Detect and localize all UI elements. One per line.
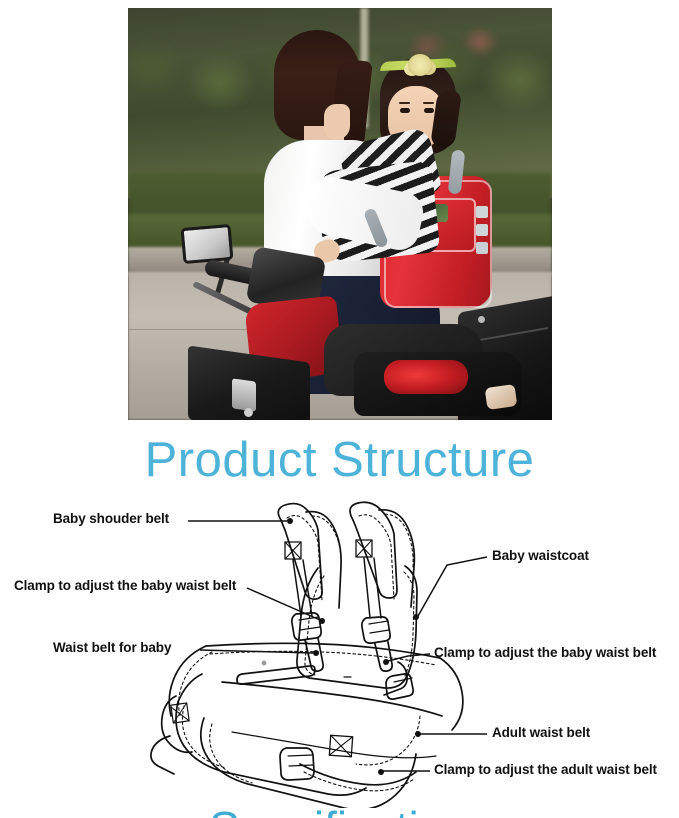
motorcycle-tail-light: [384, 360, 468, 394]
child-eye-left: [400, 108, 410, 113]
vest-reflector-2: [476, 224, 488, 236]
specification-heading: Specification: [0, 802, 679, 818]
child-eyebrow-left: [399, 102, 410, 104]
child-eyebrow-right: [423, 102, 434, 104]
callout-baby-shoulder-belt: Baby shouder belt: [53, 511, 169, 526]
photo-canvas: [128, 8, 552, 420]
callout-adult-waist-belt: Adult waist belt: [492, 725, 590, 740]
pannier-left-stud: [244, 408, 253, 417]
callout-clamp-baby-waist-belt-right: Clamp to adjust the baby waist belt: [434, 645, 656, 660]
leader-clamp-baby-waist-left: [247, 588, 320, 620]
hero-product-photo: [128, 8, 552, 420]
vest-reflector-1: [476, 206, 488, 218]
pannier-left-clasp: [232, 378, 256, 411]
callout-waist-belt-for-baby: Waist belt for baby: [53, 640, 171, 655]
leader-clamp-baby-waist-right: [388, 654, 430, 661]
callout-clamp-baby-waist-belt-left: Clamp to adjust the baby waist belt: [14, 578, 236, 593]
child-hair-flower: [408, 54, 432, 76]
pannier-right-stud: [478, 316, 485, 323]
child-eye-right: [424, 108, 434, 113]
product-structure-diagram: Baby shouder belt Clamp to adjust the ba…: [0, 496, 679, 808]
motorcycle-indicator: [485, 384, 518, 410]
leader-baby-waistcoat: [418, 557, 487, 616]
woman-cheek: [324, 104, 350, 140]
callout-baby-waistcoat: Baby waistcoat: [492, 548, 589, 563]
vest-reflector-3: [476, 242, 488, 254]
product-structure-heading: Product Structure: [0, 432, 679, 488]
callout-clamp-adult-waist-belt: Clamp to adjust the adult waist belt: [434, 762, 657, 777]
motorcycle-mirror: [181, 224, 234, 264]
